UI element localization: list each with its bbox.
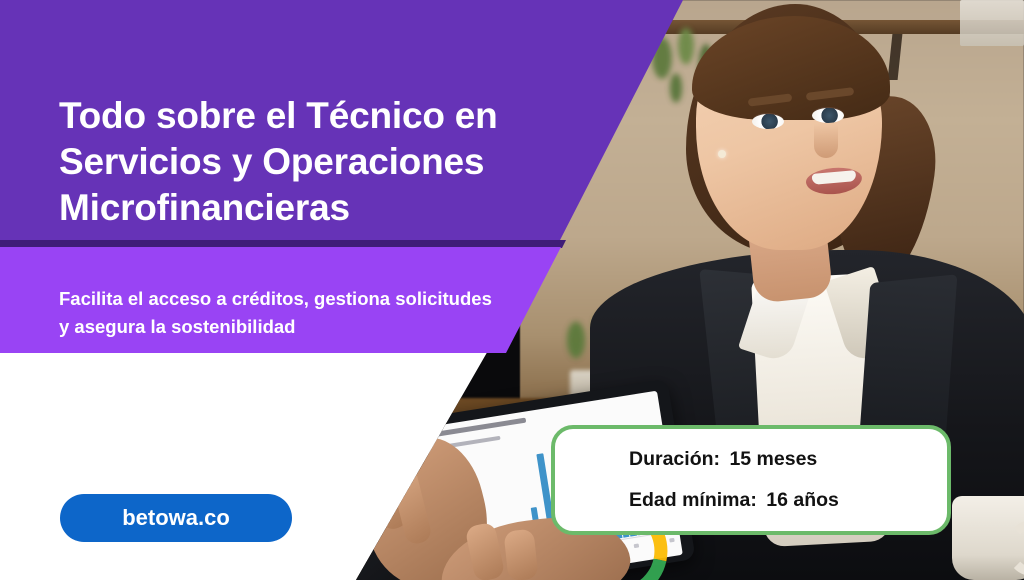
nose bbox=[814, 124, 838, 158]
tablet-title-bar bbox=[435, 418, 527, 437]
info-label-min-age: Edad mínima: bbox=[629, 489, 757, 511]
info-row-duration: Duración: 15 meses bbox=[629, 448, 947, 471]
info-label-duration: Duración: bbox=[629, 448, 720, 470]
hair-front bbox=[692, 16, 890, 120]
promo-banner: Todo sobre el Técnico en Servicios y Ope… bbox=[0, 0, 1024, 580]
website-cta-button[interactable]: betowa.co bbox=[60, 494, 292, 542]
page-title: Todo sobre el Técnico en Servicios y Ope… bbox=[59, 93, 559, 231]
finger bbox=[503, 529, 538, 580]
eye-right bbox=[812, 108, 844, 123]
course-info-card: Duración: 15 meses Edad mínima: 16 años bbox=[551, 425, 951, 535]
page-subtitle: Facilita el acceso a créditos, gestiona … bbox=[59, 285, 499, 341]
earring bbox=[718, 150, 726, 158]
info-row-min-age: Edad mínima: 16 años bbox=[629, 489, 947, 512]
info-value-min-age: 16 años bbox=[766, 489, 839, 511]
eye-left bbox=[752, 114, 784, 129]
info-value-duration: 15 meses bbox=[729, 448, 817, 470]
